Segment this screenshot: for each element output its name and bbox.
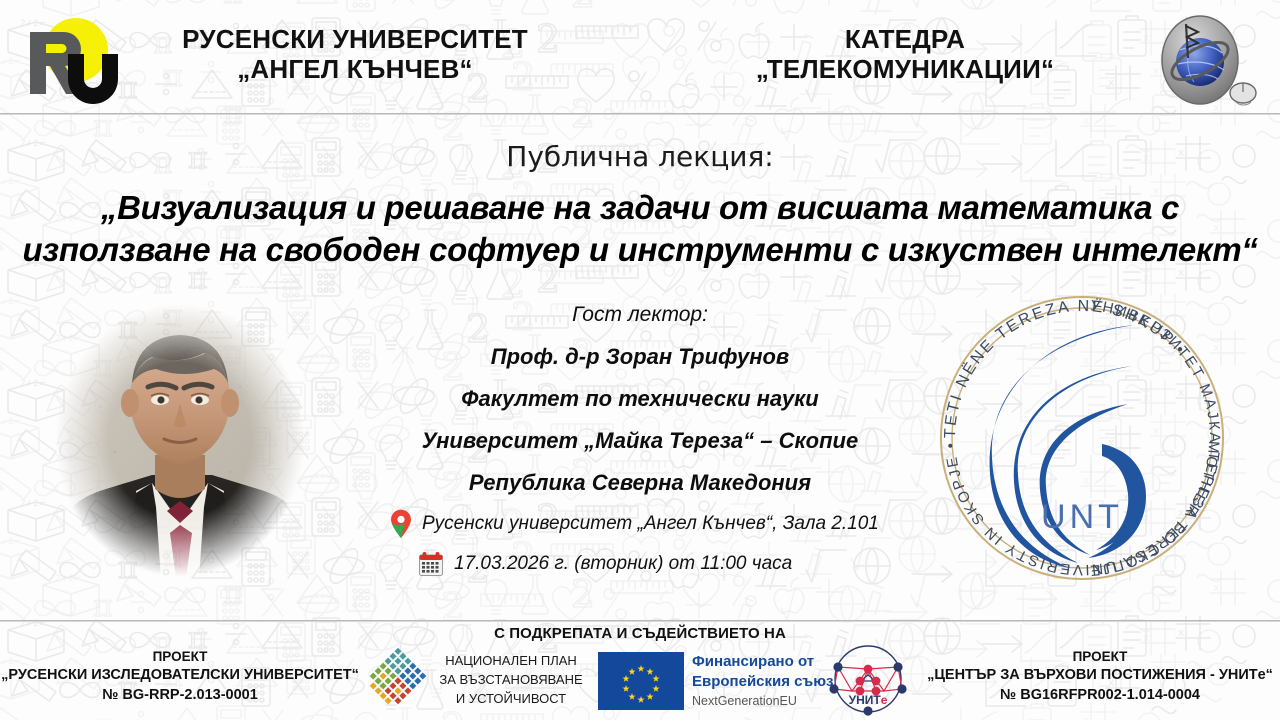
project-left-number: № BG-RRP-2.013-0001 <box>0 686 360 706</box>
unite-label: УНИТe <box>849 693 888 707</box>
department-title: КАТЕДРА „ТЕЛЕКОМУНИКАЦИИ“ <box>670 24 1140 84</box>
speaker-role: Гост лектор: <box>330 303 950 327</box>
unt-center-text: UNT <box>1041 498 1123 536</box>
project-left-title: „РУСЕНСКИ ИЗСЛЕДОВАТЕЛСКИ УНИВЕРСИТЕТ“ <box>0 666 360 686</box>
lecture-title: „Визуализация и решаване на задачи от ви… <box>20 187 1260 270</box>
unt-ring-text-sq: UNIVERSITETI NËNE TEREZA NË SHKUP • <box>922 278 1189 439</box>
speaker-name: Проф. д-р Зоран Трифунов <box>330 344 950 370</box>
speaker-country: Република Северна Македония <box>330 470 950 496</box>
telecommunications-department-logo <box>1142 14 1266 110</box>
date-row: 17.03.2026 г. (вторник) от 11:00 часа <box>418 551 792 577</box>
lecture-kicker: Публична лекция: <box>0 140 1280 173</box>
poster-main: Публична лекция: „Визуализация и решаван… <box>0 113 1280 620</box>
department-title-line2: „ТЕЛЕКОМУНИКАЦИИ“ <box>670 54 1140 84</box>
unt-university-logo: UNIVERSITETI NËNE TEREZA NË SHKUP • УНИВ… <box>922 278 1242 598</box>
university-title-line1: РУСЕНСКИ УНИВЕРСИТЕТ <box>120 24 590 54</box>
svg-text:UNIVERSITETI NËNE TEREZA NË SH: UNIVERSITETI NËNE TEREZA NË SHKUP • <box>922 278 1189 439</box>
european-union-flag-icon <box>598 652 684 710</box>
date-text: 17.03.2026 г. (вторник) от 11:00 часа <box>454 553 792 575</box>
poster-header: РУСЕНСКИ УНИВЕРСИТЕТ „АНГЕЛ КЪНЧЕВ“ КАТЕ… <box>0 0 1280 113</box>
national-plan-mosaic-logo <box>368 645 428 707</box>
project-right-kicker: ПРОЕКТ <box>920 648 1280 666</box>
ru-university-logo <box>16 10 120 105</box>
calendar-icon <box>418 551 444 577</box>
project-right-title: „ЦЕНТЪР ЗА ВЪРХОВИ ПОСТИЖЕНИЯ - УНИТe“ <box>920 666 1280 686</box>
project-right-number: № BG16RFPR002-1.014-0004 <box>920 686 1280 706</box>
support-label: С ПОДКРЕПАТА И СЪДЕЙСТВИЕТО НА <box>380 625 900 642</box>
university-title-line2: „АНГЕЛ КЪНЧЕВ“ <box>120 54 590 84</box>
lecture-title-line2: използване на свободен софтуер и инструм… <box>20 229 1260 271</box>
unite-network-logo: УНИТe <box>822 641 914 717</box>
poster-canvas: 2+2= π <box>0 0 1280 720</box>
location-pin-icon <box>390 509 412 539</box>
venue-text: Русенски университет „Ангел Кънчев“, Зал… <box>422 513 879 535</box>
speaker-university: Университет „Майка Тереза“ – Скопие <box>330 428 950 454</box>
speaker-photo <box>40 287 320 593</box>
speaker-portrait-image <box>40 287 320 593</box>
project-left-kicker: ПРОЕКТ <box>0 648 360 666</box>
department-title-line1: КАТЕДРА <box>670 24 1140 54</box>
venue-row: Русенски университет „Ангел Кънчев“, Зал… <box>390 509 879 539</box>
project-left: ПРОЕКТ „РУСЕНСКИ ИЗСЛЕДОВАТЕЛСКИ УНИВЕРС… <box>0 648 360 705</box>
project-right: ПРОЕКТ „ЦЕНТЪР ЗА ВЪРХОВИ ПОСТИЖЕНИЯ - У… <box>920 648 1280 705</box>
lecture-title-line1: „Визуализация и решаване на задачи от ви… <box>20 187 1260 229</box>
university-title: РУСЕНСКИ УНИВЕРСИТЕТ „АНГЕЛ КЪНЧЕВ“ <box>120 24 590 84</box>
speaker-faculty: Факултет по технически науки <box>330 386 950 412</box>
